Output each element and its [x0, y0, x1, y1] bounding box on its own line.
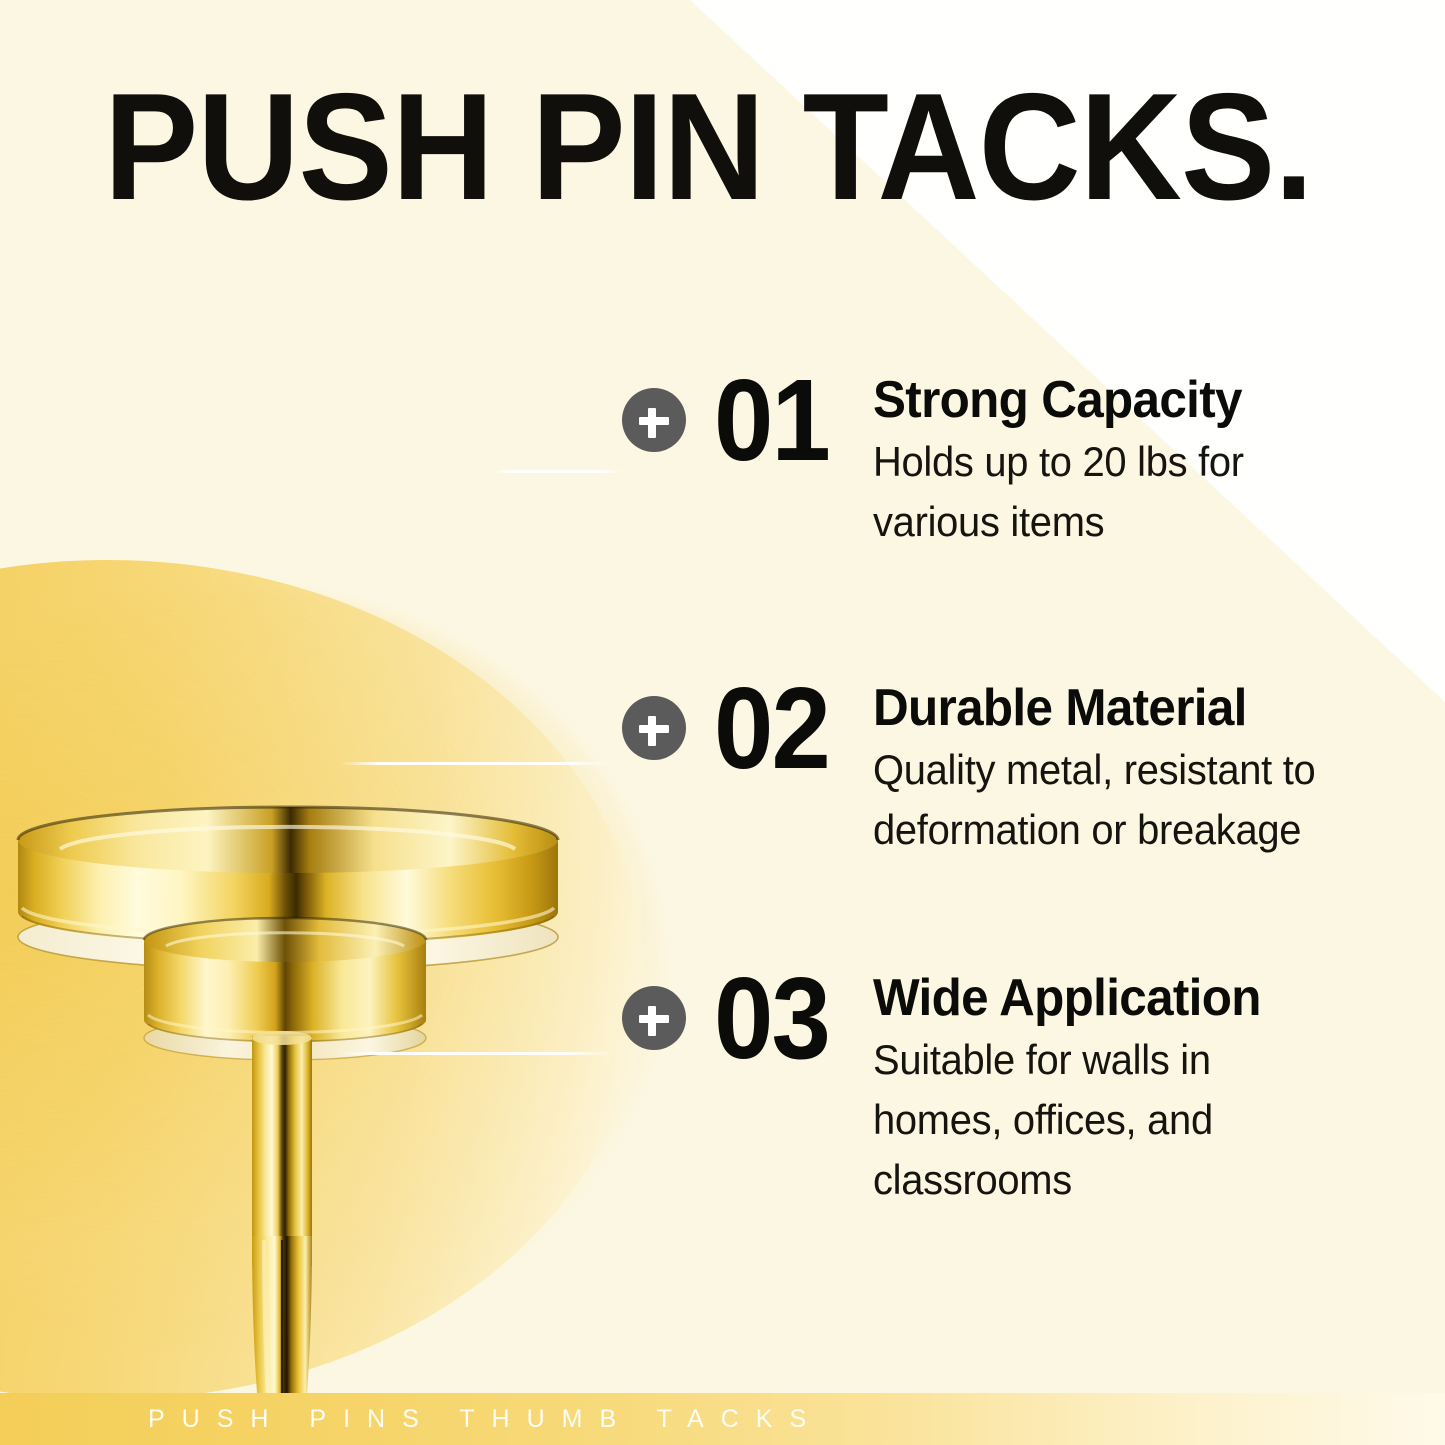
plus-icon: [622, 986, 686, 1050]
feature-2-title: Durable Material: [873, 680, 1348, 736]
product-image-gold-push-pin: [0, 400, 600, 1200]
feature-1-number: 01: [714, 368, 829, 472]
feature-3-badge-column: 03: [622, 966, 839, 1070]
feature-3-title: Wide Application: [873, 970, 1348, 1026]
feature-1-description: Holds up to 20 lbs for various items: [873, 432, 1348, 552]
bottom-banner: PUSH PINS THUMB TACKS: [0, 1393, 1445, 1445]
feature-3-text: Wide Application Suitable for walls in h…: [873, 966, 1373, 1210]
feature-item-3: 03 Wide Application Suitable for walls i…: [622, 966, 1373, 1210]
page-title: PUSH PIN TACKS.: [104, 72, 1294, 222]
connector-line-2: [340, 762, 615, 765]
plus-icon: [622, 696, 686, 760]
feature-item-2: 02 Durable Material Quality metal, resis…: [622, 676, 1373, 860]
feature-item-1: 01 Strong Capacity Holds up to 20 lbs fo…: [622, 368, 1373, 552]
feature-3-number: 03: [714, 966, 829, 1070]
product-infographic: PUSH PIN TACKS.: [0, 0, 1445, 1445]
feature-1-text: Strong Capacity Holds up to 20 lbs for v…: [873, 368, 1373, 552]
feature-3-description: Suitable for walls in homes, offices, an…: [873, 1030, 1348, 1210]
bottom-banner-text: PUSH PINS THUMB TACKS: [148, 1405, 823, 1434]
feature-2-description: Quality metal, resistant to deformation …: [873, 740, 1348, 860]
feature-1-title: Strong Capacity: [873, 372, 1348, 428]
feature-2-number: 02: [714, 676, 829, 780]
connector-line-3: [338, 1052, 616, 1055]
feature-2-badge-column: 02: [622, 676, 839, 780]
connector-line-1: [492, 470, 624, 473]
feature-1-badge-column: 01: [622, 368, 839, 472]
feature-2-text: Durable Material Quality metal, resistan…: [873, 676, 1373, 860]
plus-icon: [622, 388, 686, 452]
